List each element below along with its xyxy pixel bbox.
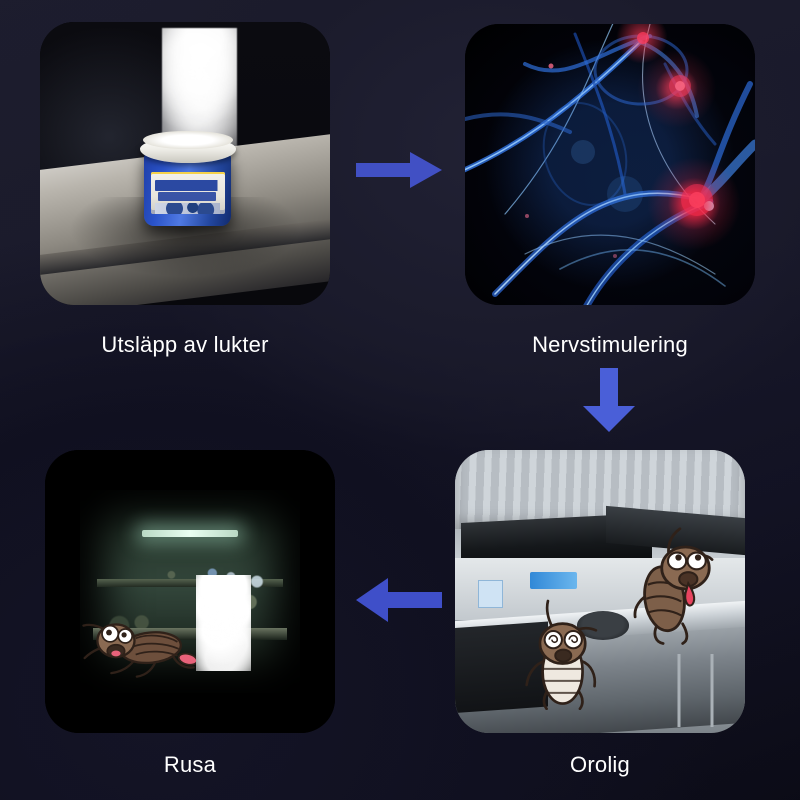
synapse-glow <box>465 24 755 305</box>
fluorescent-tube <box>142 530 239 537</box>
wall-sticker-blue <box>530 572 576 589</box>
label-text-line-2 <box>158 192 216 201</box>
infographic-stage: Utsläpp av lukter <box>0 0 800 800</box>
smoke-puff <box>196 575 251 671</box>
repellent-jar-emitting-vapour-image <box>40 22 330 305</box>
cockroach-standing <box>522 597 603 710</box>
step-image-2[interactable] <box>465 24 755 305</box>
step-label-1: Utsläpp av lukter <box>40 332 330 358</box>
vapour-plume <box>162 28 237 147</box>
label-text-line-1 <box>155 180 220 192</box>
step-label-3: Orolig <box>455 752 745 778</box>
arrow-down-icon <box>583 368 635 432</box>
counter-legs <box>664 654 739 728</box>
step-image-1[interactable] <box>40 22 330 305</box>
neuron-network-illustration-image <box>465 24 755 305</box>
fleeing-cockroach-in-workshop-image <box>45 450 335 733</box>
label-artwork <box>155 203 220 214</box>
wall-notice <box>478 580 503 607</box>
anxious-cockroaches-in-kitchen-image <box>455 450 745 733</box>
arrow-left-icon <box>356 578 442 622</box>
step-image-4[interactable] <box>45 450 335 733</box>
jar-product-label <box>151 172 225 214</box>
step-label-4: Rusa <box>45 752 335 778</box>
arrow-right-icon <box>356 152 442 188</box>
step-image-3[interactable] <box>455 450 745 733</box>
cockroach-running <box>80 608 196 687</box>
step-label-2: Nervstimulering <box>465 332 755 358</box>
cockroach-sitting <box>623 526 716 645</box>
